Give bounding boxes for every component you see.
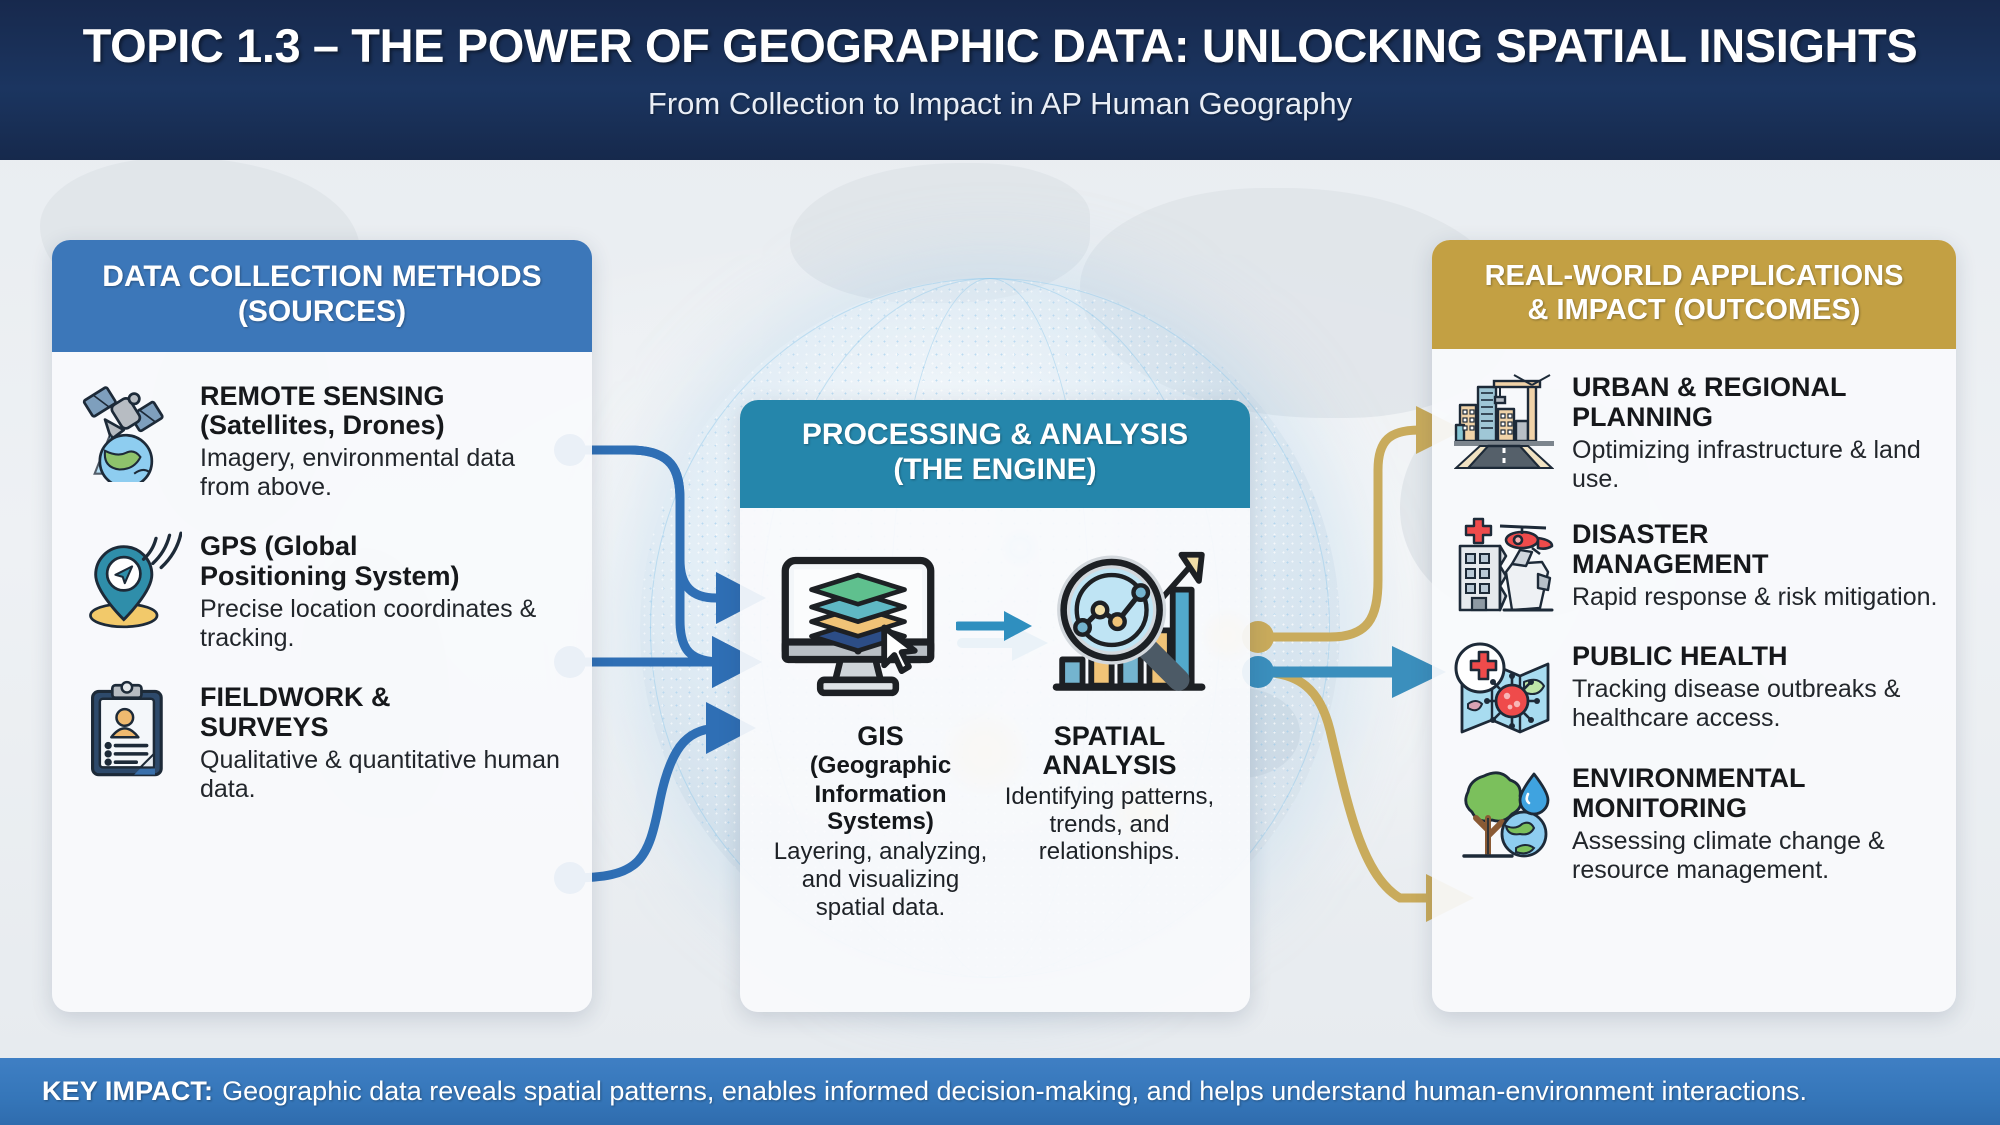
list-item[interactable]: ENVIRONMENTAL MONITORING Assessing clima…	[1454, 760, 1938, 885]
applications-impact-panel-header: REAL-WORLD APPLICATIONS & IMPACT (OUTCOM…	[1432, 240, 1956, 349]
list-item[interactable]: REMOTE SENSING (Satellites, Drones) Imag…	[78, 378, 570, 503]
list-item[interactable]: GPS (Global Positioning System) Precise …	[78, 528, 570, 653]
gis-description: Layering, analyzing, and visualizing spa…	[766, 838, 995, 921]
processing-analysis-panel: PROCESSING & ANALYSIS (THE ENGINE)	[740, 400, 1250, 1012]
item-description: Optimizing infrastructure & land use.	[1572, 436, 1938, 495]
magnifier-chart-analysis-icon	[1042, 546, 1222, 706]
item-title-line1: URBAN & REGIONAL	[1572, 373, 1938, 403]
item-title-line2: PLANNING	[1572, 403, 1938, 433]
applications-list: URBAN & REGIONAL PLANNING Optimizing inf…	[1432, 349, 1956, 885]
item-title-line2: MONITORING	[1572, 794, 1938, 824]
panel-heading-line2: (THE ENGINE)	[750, 453, 1240, 488]
hospital-helicopter-icon	[1454, 516, 1554, 616]
gps-location-pin-icon	[78, 528, 182, 632]
list-item[interactable]: URBAN & REGIONAL PLANNING Optimizing inf…	[1454, 369, 1938, 494]
panel-heading-line1: DATA COLLECTION METHODS	[62, 260, 582, 295]
health-cross-map-virus-icon	[1454, 638, 1554, 738]
data-collection-panel-header: DATA COLLECTION METHODS (SOURCES)	[52, 240, 592, 352]
gis-subtitle-line2: Information Systems)	[766, 782, 995, 836]
item-title-line2: MANAGEMENT	[1572, 550, 1938, 580]
spatial-analysis-title-line1: SPATIAL	[995, 722, 1224, 751]
gis-title: GIS	[766, 722, 995, 751]
processing-analysis-panel-header: PROCESSING & ANALYSIS (THE ENGINE)	[740, 400, 1250, 508]
key-impact-text: Geographic data reveals spatial patterns…	[222, 1076, 1807, 1107]
page-title: TOPIC 1.3 – THE POWER OF GEOGRAPHIC DATA…	[0, 18, 2000, 73]
data-collection-panel: DATA COLLECTION METHODS (SOURCES)	[52, 240, 592, 1012]
item-description: Rapid response & risk mitigation.	[1572, 583, 1938, 612]
page-subtitle: From Collection to Impact in AP Human Ge…	[0, 86, 2000, 122]
item-description: Tracking disease outbreaks & healthcare …	[1572, 675, 1938, 734]
panel-heading-line2: (SOURCES)	[62, 295, 582, 330]
spatial-analysis-title-line2: ANALYSIS	[995, 751, 1224, 780]
gis-monitor-layers-icon	[768, 546, 948, 706]
item-title-line2: SURVEYS	[200, 713, 570, 743]
item-title-line1: DISASTER	[1572, 520, 1938, 550]
panel-heading-line1: PROCESSING & ANALYSIS	[750, 418, 1240, 453]
panel-heading-line1: REAL-WORLD APPLICATIONS	[1442, 260, 1946, 294]
item-description: Precise location coordinates & tracking.	[200, 595, 570, 654]
panel-heading-line2: & IMPACT (OUTCOMES)	[1442, 294, 1946, 328]
item-title-line1: PUBLIC HEALTH	[1572, 642, 1938, 672]
item-title-line1: ENVIRONMENTAL	[1572, 764, 1938, 794]
clipboard-survey-icon	[78, 679, 182, 783]
item-description: Assessing climate change & resource mana…	[1572, 827, 1938, 886]
list-item[interactable]: FIELDWORK & SURVEYS Qualitative & quanti…	[78, 679, 570, 804]
item-title-line1: GPS (Global	[200, 532, 570, 562]
gis-caption: GIS (Geographic Information Systems) Lay…	[766, 722, 995, 922]
item-description: Imagery, environmental data from above.	[200, 444, 570, 503]
infographic-canvas: TOPIC 1.3 – THE POWER OF GEOGRAPHIC DATA…	[0, 0, 2000, 1125]
list-item[interactable]: PUBLIC HEALTH Tracking disease outbreaks…	[1454, 638, 1938, 738]
key-impact-label: KEY IMPACT:	[42, 1076, 213, 1107]
item-title-line2: (Satellites, Drones)	[200, 411, 570, 441]
engine-flow-arrow	[956, 606, 1034, 646]
applications-impact-panel: REAL-WORLD APPLICATIONS & IMPACT (OUTCOM…	[1432, 240, 1956, 1012]
item-description: Qualitative & quantitative human data.	[200, 746, 570, 805]
city-crane-road-icon	[1454, 369, 1554, 469]
gis-subtitle-line1: (Geographic	[766, 753, 995, 780]
spatial-analysis-description: Identifying patterns, trends, and relati…	[995, 783, 1224, 866]
satellite-earth-icon	[78, 378, 182, 482]
tree-water-globe-icon	[1454, 760, 1554, 860]
item-title-line1: FIELDWORK &	[200, 683, 570, 713]
data-collection-list: REMOTE SENSING (Satellites, Drones) Imag…	[52, 352, 592, 805]
item-title-line1: REMOTE SENSING	[200, 382, 570, 412]
spatial-analysis-caption: SPATIAL ANALYSIS Identifying patterns, t…	[995, 722, 1224, 922]
header-banner: TOPIC 1.3 – THE POWER OF GEOGRAPHIC DATA…	[0, 0, 2000, 160]
list-item[interactable]: DISASTER MANAGEMENT Rapid response & ris…	[1454, 516, 1938, 616]
item-title-line2: Positioning System)	[200, 562, 570, 592]
key-impact-footer: KEY IMPACT: Geographic data reveals spat…	[0, 1058, 2000, 1125]
